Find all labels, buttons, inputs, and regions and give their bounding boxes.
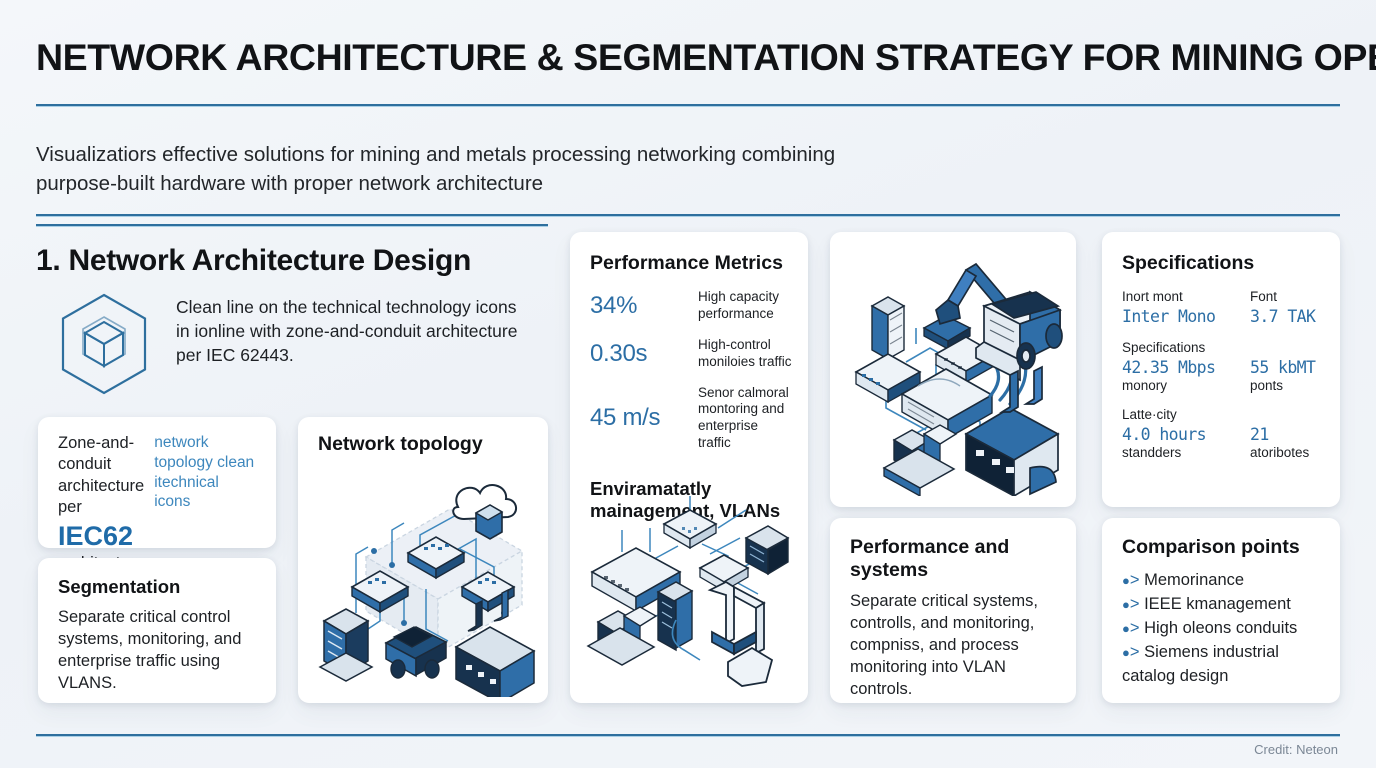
spec-value: 42.35 Mbps <box>1122 358 1250 377</box>
topology-heading: Network topology <box>298 417 548 456</box>
performance-body: Separate critical systems, controlls, an… <box>850 591 1056 701</box>
segmentation-body: Separate critical control systems, monit… <box>58 607 256 695</box>
page-subtitle: Visualizatiors effective solutions for m… <box>36 140 916 198</box>
metric-value: 0.30s <box>590 340 686 368</box>
metric-label: High-control moniloies traffic <box>698 337 792 371</box>
performance-metrics-card[interactable]: Performance Metrics 34% High capacity pe… <box>570 232 808 703</box>
spec-cell: Latte·city 4.0 hours standders <box>1122 393 1250 460</box>
hexagon-cube-icon <box>58 292 150 401</box>
spec-value: Inter Mono <box>1122 307 1250 326</box>
spec-key <box>1250 407 1326 422</box>
bullet-dot-icon: ● <box>1122 597 1130 612</box>
spec-value: 4.0 hours <box>1122 425 1250 444</box>
spec-value: 3.7 TAK <box>1250 307 1326 326</box>
bullet-dot-icon: ● <box>1122 573 1130 588</box>
metric-label: Senor calmoral montoring and enterprise … <box>698 385 792 453</box>
spec-value: 55 kbMT <box>1250 358 1326 377</box>
metrics-heading: Performance Metrics <box>570 232 808 275</box>
comparison-label: Memorinance <box>1144 571 1244 589</box>
zone-line1: Zone-and-conduit architecture per <box>58 433 144 519</box>
bullet-dot-icon: ● <box>1122 645 1130 660</box>
isometric-mining-truck-network-illustration <box>840 244 1068 501</box>
spec-value: 21 <box>1250 425 1326 444</box>
metric-value: 45 m/s <box>590 404 686 432</box>
comparison-heading: Comparison points <box>1122 536 1320 559</box>
spec-cell: 55 kbMT ponts <box>1250 326 1326 393</box>
chevron-right-icon: > <box>1130 619 1140 637</box>
section-title: 1. Network Architecture Design <box>36 244 471 278</box>
network-topology-card[interactable]: Network topology <box>298 417 548 703</box>
section-intro-text: Clean line on the technical technology i… <box>176 296 526 368</box>
spec-key: Font <box>1250 289 1326 304</box>
performance-and-systems-card[interactable]: Performance and systems Separate critica… <box>830 518 1076 703</box>
spec-key: Inort mont <box>1122 289 1250 304</box>
spec-sub: ponts <box>1250 378 1326 393</box>
page-title: NETWORK ARCHITECTURE & SEGMENTATION STRA… <box>36 38 1340 77</box>
comparison-label: Siemens industrial catalog design <box>1122 643 1279 685</box>
metric-row: 45 m/s Senor calmoral montoring and ente… <box>570 385 808 453</box>
spec-cell: Specifications 42.35 Mbps monory <box>1122 326 1250 393</box>
comparison-label: High oleons conduits <box>1144 619 1297 637</box>
comparison-points-card[interactable]: Comparison points ●> Memorinance ●> IEEE… <box>1102 518 1340 703</box>
metric-row: 0.30s High-control moniloies traffic <box>570 337 808 371</box>
bullet-dot-icon: ● <box>1122 621 1130 636</box>
chevron-right-icon: > <box>1130 595 1140 613</box>
zone-standard-code: IEC62 <box>58 521 144 552</box>
isometric-switches-excavator-illustration <box>578 494 802 703</box>
specifications-heading: Specifications <box>1102 232 1340 275</box>
chevron-right-icon: > <box>1130 571 1140 589</box>
metric-label: High capacity performance <box>698 289 792 323</box>
spec-cell: Inort mont Inter Mono <box>1122 275 1250 326</box>
spec-sub: monory <box>1122 378 1250 393</box>
specifications-card[interactable]: Specifications Inort mont Inter Mono Fon… <box>1102 232 1340 507</box>
spec-cell: Font 3.7 TAK <box>1250 275 1326 326</box>
mining-network-illustration-card[interactable] <box>830 232 1076 507</box>
performance-heading: Performance and systems <box>850 536 1056 582</box>
segmentation-card[interactable]: Segmentation Separate critical control s… <box>38 558 276 703</box>
zone-and-conduit-card[interactable]: Zone-and-conduit architecture per IEC62 … <box>38 417 276 548</box>
metric-value: 34% <box>590 292 686 320</box>
list-item[interactable]: ●> Siemens industrial catalog design <box>1122 640 1320 688</box>
list-item[interactable]: ●> Memorinance <box>1122 568 1320 592</box>
comparison-label: IEEE kmanagement <box>1144 595 1291 613</box>
list-item[interactable]: ●> High oleons conduits <box>1122 616 1320 640</box>
spec-key: Specifications <box>1122 340 1250 355</box>
zone-side-text: network topology clean itechnical icons <box>154 433 258 575</box>
spec-key <box>1250 340 1326 355</box>
credit-text: Credit: Neteon <box>1254 742 1338 757</box>
spec-sub: standders <box>1122 445 1250 460</box>
isometric-network-topology-illustration <box>308 461 540 702</box>
metric-row: 34% High capacity performance <box>570 289 808 323</box>
spec-key: Latte·city <box>1122 407 1250 422</box>
spec-cell: 21 atoribotes <box>1250 393 1326 460</box>
segmentation-heading: Segmentation <box>58 576 256 598</box>
header-divider <box>36 104 1340 106</box>
section-divider-accent <box>36 224 548 226</box>
section-divider <box>36 214 1340 216</box>
footer-divider <box>36 734 1340 736</box>
spec-sub: atoribotes <box>1250 445 1326 460</box>
list-item[interactable]: ●> IEEE kmanagement <box>1122 592 1320 616</box>
infographic-page: NETWORK ARCHITECTURE & SEGMENTATION STRA… <box>0 0 1376 768</box>
chevron-right-icon: > <box>1130 643 1140 661</box>
